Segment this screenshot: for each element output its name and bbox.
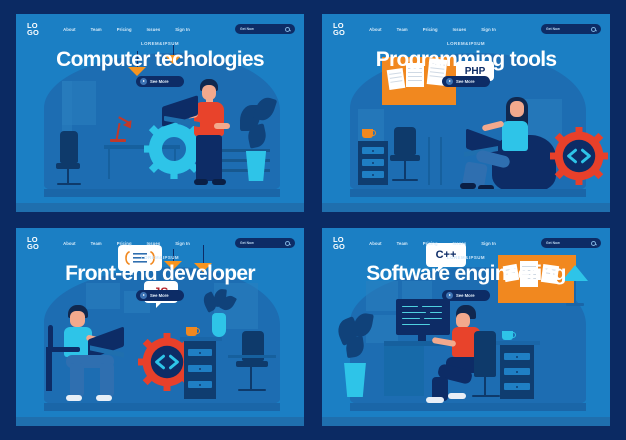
nav-item-team[interactable]: Team bbox=[91, 241, 102, 246]
search-icon bbox=[591, 27, 596, 32]
desk bbox=[228, 355, 276, 358]
logo-line-2: GO bbox=[333, 29, 345, 37]
scene-woman-on-beanbag: PHP bbox=[322, 75, 610, 203]
see-more-button[interactable]: See More bbox=[442, 76, 490, 87]
arm bbox=[482, 120, 505, 131]
head bbox=[70, 311, 85, 327]
nav-item-sign-in[interactable]: Sign In bbox=[175, 27, 190, 32]
legs bbox=[196, 135, 222, 181]
card-title: Computer techologies bbox=[16, 47, 304, 72]
nav-links: About Team Pricing Issues Sign In bbox=[369, 27, 541, 32]
office-chair-stem bbox=[67, 169, 69, 183]
office-chair-seat bbox=[236, 361, 268, 367]
office-chair-base bbox=[238, 389, 266, 391]
person-man-seated bbox=[50, 305, 142, 409]
office-chair-stem bbox=[484, 377, 486, 395]
card-content: PHP bbox=[322, 14, 610, 203]
code-line bbox=[402, 312, 426, 313]
drawer-handle bbox=[516, 356, 518, 358]
torso-shirt bbox=[194, 102, 224, 136]
nav-item-sign-in[interactable]: Sign In bbox=[175, 241, 190, 246]
nav-item-pricing[interactable]: Pricing bbox=[423, 27, 438, 32]
shoe bbox=[66, 395, 82, 401]
nav-item-about[interactable]: About bbox=[369, 241, 382, 246]
navbar: LO GO About Team Pricing Issues Sign In … bbox=[16, 228, 304, 254]
office-chair-stem bbox=[404, 161, 406, 179]
shoe bbox=[96, 395, 112, 401]
floor bbox=[44, 403, 280, 411]
shoe bbox=[212, 179, 226, 185]
floor bbox=[44, 189, 280, 197]
landing-card-computer-technologies: LO GO About Team Pricing Issues Sign In … bbox=[16, 14, 304, 212]
nav-links: About Team Pricing Issues Sign In bbox=[369, 241, 541, 246]
drawer-handle bbox=[372, 162, 374, 164]
nav-item-team[interactable]: Team bbox=[397, 27, 408, 32]
head bbox=[456, 313, 470, 328]
desk-leg bbox=[108, 149, 110, 179]
see-more-button[interactable]: See More bbox=[136, 76, 184, 87]
play-icon bbox=[446, 292, 453, 299]
head bbox=[510, 101, 524, 117]
card-title: Software engineering bbox=[322, 261, 610, 286]
card-title: Programming tools bbox=[322, 47, 610, 72]
arm bbox=[214, 123, 230, 129]
card-kicker: LOREM&IPSUM bbox=[16, 41, 304, 46]
card-footer-bar bbox=[322, 203, 610, 212]
logo[interactable]: LO GO bbox=[333, 236, 345, 251]
office-chair-base bbox=[472, 395, 500, 397]
card-kicker: LOREM&IPSUM bbox=[322, 41, 610, 46]
torso-shirt bbox=[502, 121, 528, 151]
nav-item-pricing[interactable]: Pricing bbox=[117, 241, 132, 246]
cabinet-top bbox=[180, 337, 222, 341]
nav-links: About Team Pricing Issues Sign In bbox=[63, 241, 235, 246]
see-more-label: See More bbox=[150, 293, 169, 298]
floor bbox=[350, 403, 586, 411]
navbar: LO GO About Team Pricing Issues Sign In … bbox=[322, 14, 610, 40]
nav-item-sign-in[interactable]: Sign In bbox=[481, 241, 496, 246]
search-pill-label: Get Now bbox=[546, 241, 560, 245]
scene-man-at-desk-with-monitor: C++ bbox=[322, 289, 610, 417]
drawer-handle bbox=[372, 150, 374, 152]
drawer-handle bbox=[372, 174, 374, 176]
navbar: LO GO About Team Pricing Issues Sign In … bbox=[322, 228, 610, 254]
card-kicker: LOREM&IPSUM bbox=[322, 255, 610, 260]
card-content: C++ bbox=[322, 228, 610, 417]
nav-item-sign-in[interactable]: Sign In bbox=[481, 27, 496, 32]
office-chair-base bbox=[392, 179, 418, 181]
gear-code-icon bbox=[550, 127, 608, 185]
table-leg bbox=[440, 137, 442, 185]
drawer-handle bbox=[199, 368, 201, 370]
see-more-button[interactable]: See More bbox=[442, 290, 490, 301]
search-icon bbox=[285, 241, 290, 246]
office-chair bbox=[60, 131, 78, 163]
legs bbox=[100, 363, 114, 397]
landing-pages-grid: LO GO About Team Pricing Issues Sign In … bbox=[0, 0, 626, 440]
drawer-handle bbox=[516, 371, 518, 373]
vase bbox=[212, 313, 226, 337]
card-title: Front-end developer bbox=[16, 261, 304, 286]
see-more-button[interactable]: See More bbox=[136, 290, 184, 301]
chair-back bbox=[48, 325, 53, 351]
nav-item-issues[interactable]: Issues bbox=[147, 27, 161, 32]
shoe bbox=[194, 179, 208, 185]
see-more-label: See More bbox=[456, 293, 475, 298]
nav-item-about[interactable]: About bbox=[63, 241, 76, 246]
legs bbox=[70, 363, 84, 397]
play-icon bbox=[140, 292, 147, 299]
nav-item-team[interactable]: Team bbox=[91, 27, 102, 32]
card-footer-bar bbox=[16, 417, 304, 426]
nav-item-issues[interactable]: Issues bbox=[147, 241, 161, 246]
navbar: LO GO About Team Pricing Issues Sign In … bbox=[16, 14, 304, 40]
logo-line-2: GO bbox=[27, 243, 39, 251]
logo[interactable]: LO GO bbox=[27, 22, 39, 37]
floor bbox=[350, 189, 586, 197]
code-line bbox=[402, 306, 418, 307]
card-content: JS bbox=[16, 228, 304, 417]
play-icon bbox=[446, 78, 453, 85]
nav-item-pricing[interactable]: Pricing bbox=[423, 241, 438, 246]
scene-man-seated-with-laptop: JS bbox=[16, 289, 304, 417]
coffee-mug bbox=[186, 327, 197, 336]
nav-item-pricing[interactable]: Pricing bbox=[117, 27, 132, 32]
drawer-handle bbox=[199, 352, 201, 354]
office-chair bbox=[394, 127, 416, 155]
scene-man-standing-with-laptop bbox=[16, 75, 304, 203]
search-icon bbox=[591, 241, 596, 246]
nav-item-issues[interactable]: Issues bbox=[453, 241, 467, 246]
landing-card-programming-tools: PHP bbox=[322, 14, 610, 212]
office-chair-stem bbox=[250, 367, 252, 389]
search-pill[interactable]: Get Now bbox=[235, 24, 295, 34]
shoe bbox=[448, 393, 466, 399]
nav-item-team[interactable]: Team bbox=[397, 241, 408, 246]
card-footer-bar bbox=[16, 203, 304, 212]
search-pill-label: Get Now bbox=[546, 27, 560, 31]
see-more-label: See More bbox=[456, 79, 475, 84]
search-pill[interactable]: Get Now bbox=[235, 238, 295, 248]
chair-frame bbox=[46, 347, 52, 391]
landing-card-software-engineering: C++ bbox=[322, 228, 610, 426]
landing-card-front-end-developer: JS bbox=[16, 228, 304, 426]
nav-item-issues[interactable]: Issues bbox=[453, 27, 467, 32]
search-pill[interactable]: Get Now bbox=[541, 238, 601, 248]
coffee-mug bbox=[502, 331, 513, 340]
card-kicker: LOREM&IPSUM bbox=[16, 255, 304, 260]
nav-item-about[interactable]: About bbox=[63, 27, 76, 32]
desk-body bbox=[384, 346, 424, 396]
nav-item-about[interactable]: About bbox=[369, 27, 382, 32]
see-more-label: See More bbox=[150, 79, 169, 84]
table-leg bbox=[428, 137, 430, 185]
play-icon bbox=[140, 78, 147, 85]
coffee-mug bbox=[362, 129, 373, 138]
cabinet-top bbox=[496, 341, 540, 345]
code-line bbox=[402, 324, 430, 325]
code-line bbox=[402, 318, 420, 319]
desk-lamp-icon bbox=[108, 117, 130, 147]
logo-line-2: GO bbox=[27, 29, 39, 37]
logo-line-2: GO bbox=[333, 243, 345, 251]
search-pill-label: Get Now bbox=[240, 241, 254, 245]
nav-links: About Team Pricing Issues Sign In bbox=[63, 27, 235, 32]
search-icon bbox=[285, 27, 290, 32]
search-pill-label: Get Now bbox=[240, 27, 254, 31]
search-pill[interactable]: Get Now bbox=[541, 24, 601, 34]
card-content: LO GO About Team Pricing Issues Sign In … bbox=[16, 14, 304, 203]
logo[interactable]: LO GO bbox=[27, 236, 39, 251]
drawer-handle bbox=[516, 386, 518, 388]
wall-panel bbox=[358, 109, 384, 145]
person-man-standing bbox=[184, 79, 240, 191]
office-chair-base bbox=[57, 183, 81, 185]
card-footer-bar bbox=[322, 417, 610, 426]
drawer-handle bbox=[199, 384, 201, 386]
office-chair bbox=[474, 331, 496, 377]
person-woman-seated bbox=[480, 95, 560, 191]
logo[interactable]: LO GO bbox=[333, 22, 345, 37]
